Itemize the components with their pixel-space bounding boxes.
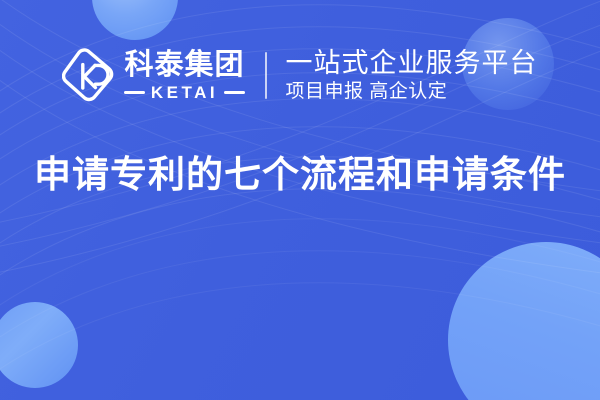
circle-bottom-right-decoration bbox=[448, 242, 600, 400]
banner-header: 科泰集团 KETAI 一站式企业服务平台 项目申报 高企认定 bbox=[0, 0, 600, 150]
logo-rule-left-icon bbox=[124, 91, 144, 94]
slogan-sub-text: 项目申报 高企认定 bbox=[286, 80, 538, 104]
brand-logo-text: 科泰集团 KETAI bbox=[124, 49, 244, 102]
header-divider bbox=[265, 52, 267, 99]
brand-name-en-row: KETAI bbox=[124, 83, 244, 102]
circle-bottom-left-decoration bbox=[0, 302, 78, 388]
promo-banner: 科泰集团 KETAI 一站式企业服务平台 项目申报 高企认定 申请专利的七个流程… bbox=[0, 0, 600, 400]
brand-slogan: 一站式企业服务平台 项目申报 高企认定 bbox=[286, 47, 538, 104]
page-title: 申请专利的七个流程和申请条件 bbox=[0, 152, 600, 198]
brand-name-cn: 科泰集团 bbox=[124, 49, 244, 81]
ketai-kp-diamond-logo-icon bbox=[62, 48, 114, 102]
brand-name-en: KETAI bbox=[151, 83, 218, 102]
logo-rule-right-icon bbox=[224, 91, 244, 94]
brand-logo: 科泰集团 KETAI bbox=[62, 48, 244, 102]
slogan-main-text: 一站式企业服务平台 bbox=[286, 47, 538, 79]
